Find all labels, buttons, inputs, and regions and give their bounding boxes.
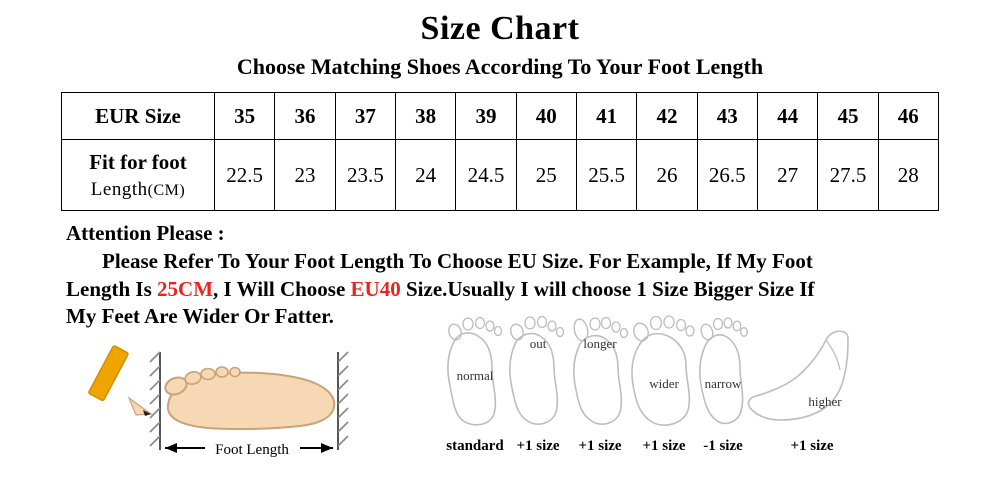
foot-type-caption: -1 size [703,438,743,454]
foot-length-cell: 24 [395,140,455,211]
foot-length-cell: 25 [516,140,576,211]
foot-type-caption: +1 size [790,438,833,454]
foot-type-inner-label: higher [808,394,842,409]
toe-4 [216,367,228,377]
eur-size-cell: 36 [275,93,335,140]
note-highlight-eu: EU40 [351,277,401,301]
attention-heading: Attention Please : [66,221,1000,246]
eur-size-cell: 44 [757,93,817,140]
foot-type-normal: normal standard [446,318,504,455]
foot-length-cell: 24.5 [456,140,516,211]
foot-type-higher: higher +1 size [749,331,848,454]
foot-length-cell: 27 [757,140,817,211]
eur-size-cell: 42 [637,93,697,140]
foot-length-cell: 22.5 [215,140,275,211]
eur-size-cell: 40 [516,93,576,140]
table-row-foot-length: Fit for foot Length(CM) 22.5 23 23.5 24 … [62,140,939,211]
foot-type-out: out +1 size [509,317,564,455]
toe-3 [201,369,215,380]
row-label-foot-length: Fit for foot Length(CM) [62,140,215,211]
foot-type-inner-label: wider [649,376,679,391]
foot-type-inner-label: narrow [705,376,742,391]
eur-size-cell: 38 [395,93,455,140]
row-label-unit: (CM) [148,182,186,199]
foot-type-wider: wider +1 size [632,316,694,454]
figures-svg: Foot Length normal standard [0,310,1000,490]
row-label-eur: EUR Size [62,93,215,140]
toe-5 [230,368,240,377]
table-row-eur: EUR Size 35 36 37 38 39 40 41 42 43 44 4… [62,93,939,140]
foot-type-inner-label: normal [457,368,494,383]
page-title: Size Chart [0,10,1000,48]
size-table: EUR Size 35 36 37 38 39 40 41 42 43 44 4… [61,92,939,211]
note-line2-a: Length Is [66,277,157,301]
foot-measure-diagram: Foot Length [88,345,348,458]
foot-length-cell: 28 [878,140,938,211]
eur-size-cell: 43 [697,93,757,140]
foot-length-cell: 23 [275,140,335,211]
foot-type-caption: +1 size [642,438,685,454]
foot-type-longer: longer +1 size [572,318,627,455]
foot-length-cell: 23.5 [335,140,395,211]
foot-type-narrow: narrow -1 size [699,318,747,454]
note-highlight-length: 25CM [157,277,213,301]
foot-length-cell: 25.5 [576,140,636,211]
note-line2-c: Size.Usually I will choose 1 Size Bigger… [401,277,815,301]
wall-left-hatch [150,352,160,446]
page-subtitle: Choose Matching Shoes According To Your … [0,54,1000,80]
foot-type-inner-label: out [530,336,547,351]
foot-type-caption: standard [446,438,504,454]
pencil-icon [88,345,151,416]
eur-size-cell: 45 [818,93,878,140]
eur-size-cell: 41 [576,93,636,140]
eur-size-cell: 37 [335,93,395,140]
row-label-line2: Length [91,179,148,200]
note-line2-b: , I Will Choose [213,277,351,301]
note-line1: Please Refer To Your Foot Length To Choo… [102,249,813,273]
foot-type-inner-label: longer [583,336,617,351]
foot-length-cell: 26 [637,140,697,211]
foot-type-caption: +1 size [516,438,559,454]
eur-size-cell: 39 [456,93,516,140]
foot-type-caption: +1 size [578,438,621,454]
foot-length-cell: 27.5 [818,140,878,211]
size-chart-page: Size Chart Choose Matching Shoes Accordi… [0,10,1000,490]
foot-length-cell: 26.5 [697,140,757,211]
row-label-line1: Fit for foot [89,150,187,174]
eur-size-cell: 35 [215,93,275,140]
figures-area: Foot Length normal standard [0,310,1000,490]
foot-length-label: Foot Length [215,442,289,458]
wall-right-hatch [338,352,348,446]
foot-length-measure: Foot Length [165,438,333,458]
eur-size-cell: 46 [878,93,938,140]
